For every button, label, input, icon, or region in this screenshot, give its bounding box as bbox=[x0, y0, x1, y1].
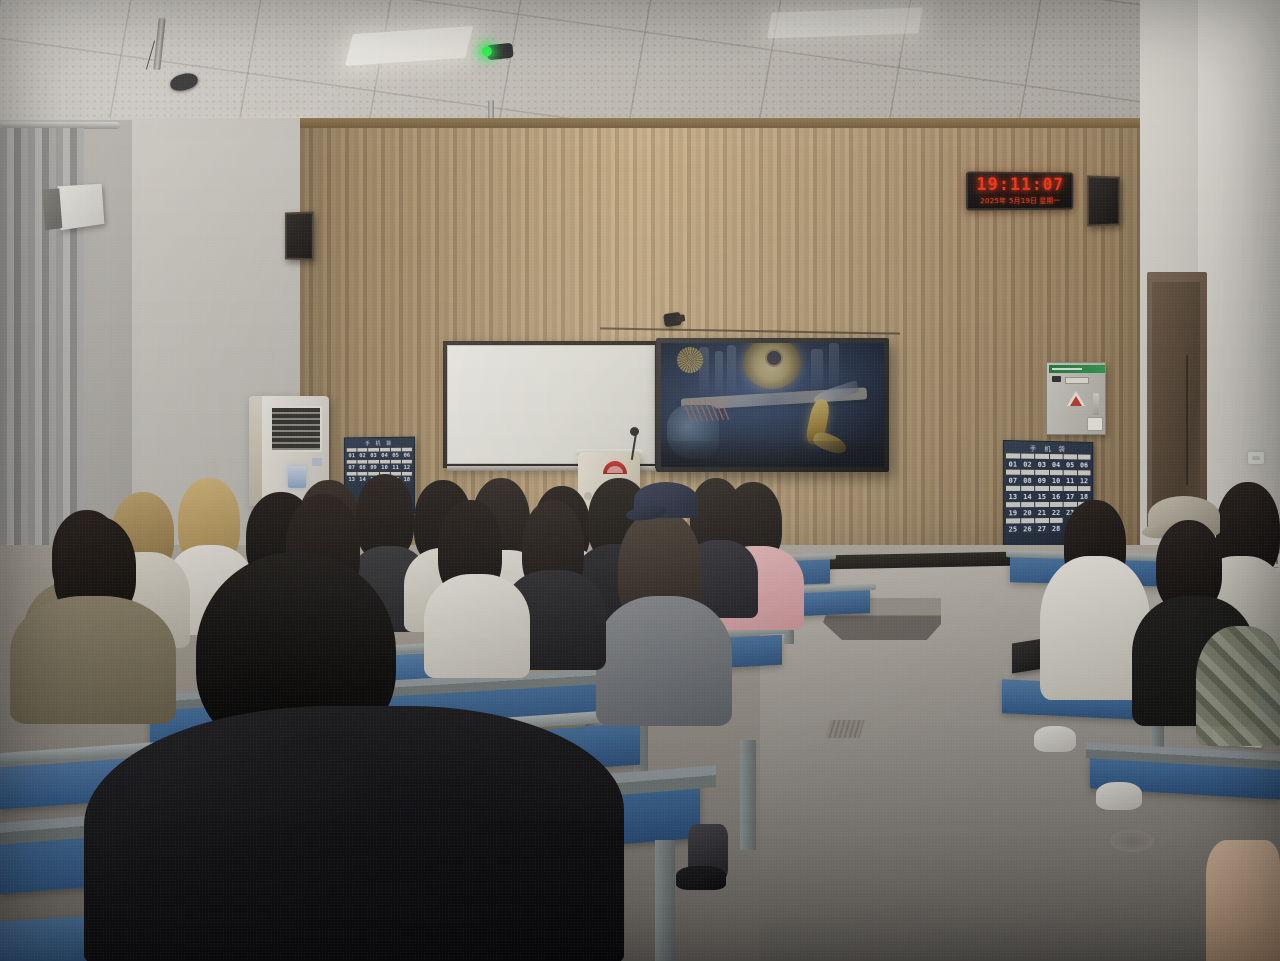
cabinet-handle[interactable] bbox=[1093, 393, 1099, 415]
door-seam bbox=[1186, 355, 1188, 485]
whiteboard-surface bbox=[447, 345, 655, 464]
pocket-slot[interactable]: 02 bbox=[358, 448, 368, 459]
pocket-slot[interactable]: 27 bbox=[1035, 518, 1048, 533]
pocket-slot[interactable]: 10 bbox=[379, 460, 389, 471]
pocket-slot[interactable]: 18 bbox=[1078, 486, 1091, 501]
pocket-slot[interactable]: 28 bbox=[1049, 518, 1062, 533]
led-wall-clock: 19:11:07 2025年 5月19日 星期一 bbox=[966, 172, 1073, 211]
pocket-slot[interactable]: 26 bbox=[1021, 518, 1035, 533]
pocket-slot[interactable]: 06 bbox=[402, 448, 412, 459]
pocket-slot[interactable]: 17 bbox=[1064, 486, 1077, 501]
wall-speaker-left bbox=[57, 184, 104, 230]
torso bbox=[424, 574, 530, 678]
pocket-slot[interactable]: 22 bbox=[1049, 502, 1062, 517]
pocket-slot[interactable]: 13 bbox=[1006, 486, 1020, 501]
classroom-lcd-display[interactable] bbox=[656, 338, 889, 472]
ac-badge bbox=[312, 458, 322, 466]
pocket-slot[interactable]: 07 bbox=[1006, 470, 1020, 485]
pocket-slot[interactable]: 12 bbox=[1078, 470, 1091, 485]
pocket-slot[interactable]: 09 bbox=[1035, 470, 1048, 485]
pocket-slot[interactable]: 20 bbox=[1021, 502, 1035, 517]
torso bbox=[84, 706, 624, 961]
wall-speaker-right bbox=[1087, 175, 1120, 226]
ac-vent-louvers bbox=[270, 406, 322, 452]
cabinet-green-header bbox=[1049, 365, 1105, 373]
shoe bbox=[676, 866, 726, 890]
display-screen bbox=[661, 343, 884, 467]
pocket-slot[interactable]: 01 bbox=[1006, 453, 1020, 468]
torso bbox=[10, 596, 176, 724]
pocket-slot[interactable]: 03 bbox=[368, 448, 378, 459]
ac-side-panel bbox=[249, 396, 262, 506]
pocket-slot[interactable]: 05 bbox=[391, 448, 401, 459]
pocket-slot[interactable]: 07 bbox=[347, 460, 357, 471]
pocket-slot[interactable]: 08 bbox=[1021, 470, 1035, 485]
cabinet-switch[interactable] bbox=[1052, 376, 1061, 382]
pocket-slot[interactable]: 11 bbox=[1064, 470, 1077, 485]
pocket-slot[interactable]: 06 bbox=[1078, 454, 1091, 469]
shoe bbox=[1034, 726, 1076, 752]
clock-time-readout: 19:11:07 bbox=[968, 175, 1071, 195]
shoe bbox=[1096, 782, 1142, 810]
ac-display-panel bbox=[288, 466, 306, 488]
pocket-slot[interactable]: 11 bbox=[391, 460, 401, 471]
pocket-slot[interactable]: 04 bbox=[379, 448, 389, 459]
pocket-slot[interactable]: 15 bbox=[1035, 486, 1048, 501]
pocket-slot[interactable]: 01 bbox=[347, 448, 357, 459]
wall-speaker-mid bbox=[285, 211, 314, 260]
high-voltage-warning-icon bbox=[1067, 391, 1085, 406]
wall-top-trim bbox=[300, 118, 1160, 128]
pocket-slot[interactable]: 25 bbox=[1006, 518, 1020, 533]
pocket-slot[interactable]: 08 bbox=[358, 460, 368, 471]
desk-leg bbox=[740, 740, 756, 850]
floor-vent bbox=[1110, 830, 1154, 852]
camo-jacket bbox=[1196, 626, 1280, 746]
pocket-slot[interactable]: 04 bbox=[1049, 454, 1062, 469]
classroom-photo: 19:11:07 2025年 5月19日 星期一 bbox=[0, 0, 1280, 961]
pocket-slot[interactable]: 09 bbox=[368, 460, 378, 471]
pocket-slot[interactable]: 19 bbox=[1006, 502, 1020, 517]
cabinet-tag bbox=[1087, 417, 1103, 431]
floor-vent bbox=[825, 720, 864, 738]
pocket-slot[interactable]: 10 bbox=[1049, 470, 1062, 485]
legs bbox=[1206, 840, 1280, 961]
pocket-slot[interactable]: 16 bbox=[1049, 486, 1062, 501]
torso bbox=[596, 596, 732, 726]
ceiling-indicator-device bbox=[486, 43, 513, 61]
pocket-slot[interactable]: 03 bbox=[1035, 454, 1048, 469]
screen-vignette bbox=[661, 343, 884, 467]
ceiling-light-panel bbox=[767, 7, 923, 38]
pocket-slot[interactable]: 02 bbox=[1021, 454, 1035, 469]
clock-date-readout: 2025年 5月19日 星期一 bbox=[968, 196, 1071, 206]
electrical-cabinet bbox=[1046, 362, 1106, 435]
right-wall-column bbox=[1198, 0, 1280, 560]
pocket-slot[interactable]: 13 bbox=[347, 472, 357, 483]
pocket-slot[interactable]: 12 bbox=[402, 460, 412, 471]
desk-leg bbox=[655, 840, 675, 961]
wall-sensor-icon bbox=[1248, 452, 1264, 464]
pocket-slot[interactable]: 05 bbox=[1064, 454, 1077, 469]
pocket-slot[interactable]: 14 bbox=[1021, 486, 1035, 501]
pocket-slot[interactable]: 18 bbox=[402, 472, 412, 483]
cabinet-label-plate bbox=[1065, 377, 1089, 384]
lectern-microphone bbox=[630, 427, 639, 436]
pocket-slot[interactable]: 21 bbox=[1035, 502, 1048, 517]
pocket-slot[interactable]: 14 bbox=[358, 472, 368, 483]
camera-icon bbox=[663, 312, 682, 327]
